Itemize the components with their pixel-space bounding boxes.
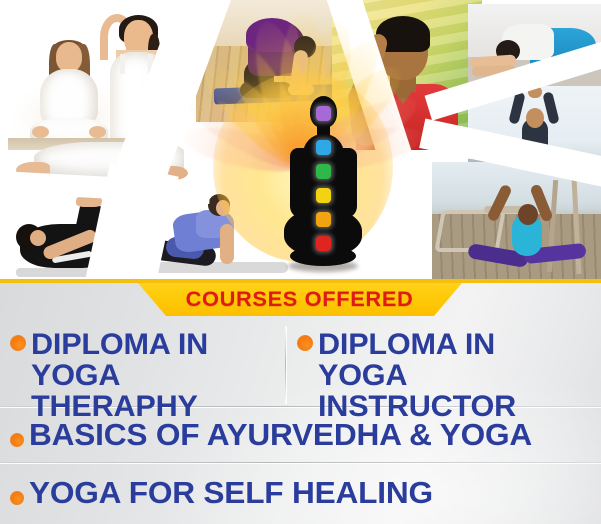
courses-offered-banner: COURSES OFFERED bbox=[138, 283, 462, 316]
meditating-silhouette bbox=[284, 96, 362, 280]
course-label: YOGA FOR SELF HEALING bbox=[29, 477, 433, 509]
photo-collage bbox=[0, 0, 601, 280]
bullet-icon bbox=[10, 491, 24, 505]
course-list: DIPLOMA IN YOGA THERAPHY DIPLOMA IN YOGA… bbox=[0, 320, 601, 524]
chakra-manipura-solar-plexus bbox=[316, 212, 331, 227]
course-label: BASICS OF AYURVEDHA & YOGA bbox=[29, 419, 532, 451]
yoga-courses-poster: COURSES OFFERED DIPLOMA IN YOGA THERAPHY… bbox=[0, 0, 601, 524]
banner-title: COURSES OFFERED bbox=[186, 288, 414, 312]
course-row-top: DIPLOMA IN YOGA THERAPHY DIPLOMA IN YOGA… bbox=[0, 320, 601, 406]
chakra-sahasrara-crown bbox=[316, 106, 331, 121]
chakra-muladhara-root bbox=[316, 236, 331, 251]
chakra-vishuddha-throat bbox=[316, 164, 331, 179]
course-item-basics-ayurvedha-yoga[interactable]: BASICS OF AYURVEDHA & YOGA bbox=[0, 406, 601, 464]
chakra-anahata-heart bbox=[316, 188, 331, 203]
bullet-icon bbox=[10, 433, 24, 447]
chakra-ajna-third-eye bbox=[316, 140, 331, 155]
bullet-icon bbox=[297, 335, 313, 351]
course-item-yoga-self-healing[interactable]: YOGA FOR SELF HEALING bbox=[0, 464, 601, 522]
bullet-icon bbox=[10, 335, 26, 351]
